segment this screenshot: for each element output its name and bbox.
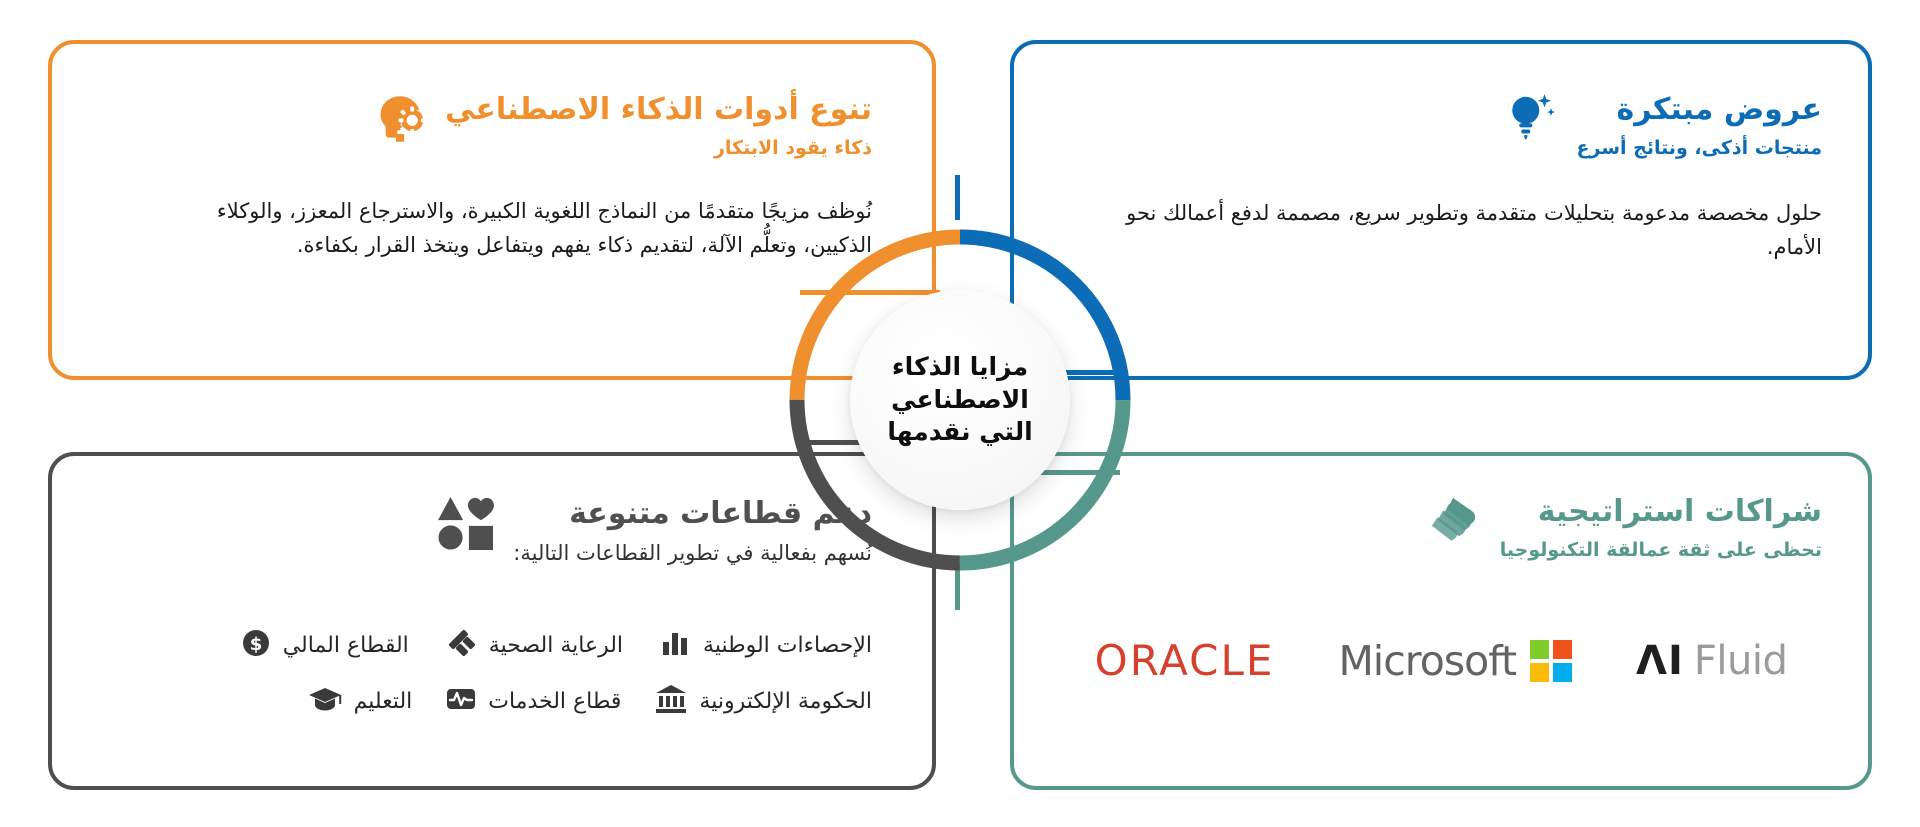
- sector-item-national-statistics[interactable]: الإحصاءات الوطنية: [661, 628, 872, 662]
- sector-label: الإحصاءات الوطنية: [703, 633, 872, 658]
- head-gear-icon: [373, 92, 427, 150]
- card-body-text: حلول مخصصة مدعومة بتحليلات متقدمة وتطوير…: [1122, 196, 1822, 264]
- card-title: تنوع أدوات الذكاء الاصطناعي: [445, 92, 872, 127]
- fluid-ai-word: Fluid: [1694, 638, 1787, 684]
- sector-label: الرعاية الصحية: [489, 633, 623, 658]
- card-header: تنوع أدوات الذكاء الاصطناعي ذكاء يقود ال…: [373, 92, 872, 161]
- hub-line-1: مزايا الذكاء: [887, 351, 1032, 384]
- center-hub: مزايا الذكاء الاصطناعي التي نقدمها: [760, 200, 1160, 600]
- hub-line-2: الاصطناعي: [887, 384, 1032, 417]
- sector-item-e-government[interactable]: الحكومة الإلكترونية: [655, 684, 872, 718]
- infographic-canvas: تنوع أدوات الذكاء الاصطناعي ذكاء يقود ال…: [0, 0, 1920, 827]
- card-header-text: شراكات استراتيجية تحظى على ثقة عمالقة ال…: [1500, 494, 1822, 563]
- hub-line-3: التي نقدمها: [887, 416, 1032, 449]
- sector-item-services[interactable]: قطاع الخدمات: [446, 684, 621, 718]
- card-header-text: تنوع أدوات الذكاء الاصطناعي ذكاء يقود ال…: [445, 92, 872, 161]
- fluid-ai-mark: ΛI: [1636, 638, 1684, 684]
- card-header: شراكات استراتيجية تحظى على ثقة عمالقة ال…: [1424, 494, 1822, 563]
- sector-item-education[interactable]: التعليم: [308, 684, 413, 718]
- microsoft-logo[interactable]: Microsoft: [1338, 637, 1572, 685]
- handshake-icon: [1424, 494, 1482, 548]
- shapes-icon: [437, 496, 495, 554]
- government-bank-icon: [655, 684, 687, 718]
- card-header-text: عروض مبتكرة منتجات أذكى، ونتائج أسرع: [1577, 92, 1822, 161]
- sector-item-healthcare[interactable]: الرعاية الصحية: [447, 628, 623, 662]
- bar-chart-icon: [661, 628, 691, 662]
- sector-item-financial[interactable]: $ القطاع المالي: [241, 628, 409, 662]
- card-subtitle: ذكاء يقود الابتكار: [445, 136, 872, 161]
- partner-logos: Fluid ΛI Microsoft ORACLE: [1014, 636, 1868, 685]
- microsoft-squares-icon: [1530, 640, 1572, 682]
- sector-list: الإحصاءات الوطنية الرعاية: [112, 628, 872, 718]
- microsoft-word: Microsoft: [1338, 637, 1516, 685]
- pulse-chart-icon: [446, 684, 476, 718]
- card-subtitle: منتجات أذكى، ونتائج أسرع: [1577, 136, 1822, 161]
- card-title: شراكات استراتيجية: [1500, 494, 1822, 529]
- sector-label: قطاع الخدمات: [488, 689, 621, 714]
- sector-label: التعليم: [354, 689, 413, 714]
- hub-text: مزايا الذكاء الاصطناعي التي نقدمها: [887, 351, 1032, 449]
- hub-disc: مزايا الذكاء الاصطناعي التي نقدمها: [850, 290, 1070, 510]
- lightbulb-sparkle-icon: [1503, 92, 1559, 150]
- fluid-ai-logo[interactable]: Fluid ΛI: [1636, 638, 1787, 684]
- dollar-coin-icon: $: [241, 628, 271, 662]
- sector-row: الحكومة الإلكترونية قطاع الخدمات: [112, 684, 872, 718]
- oracle-logo[interactable]: ORACLE: [1095, 636, 1275, 685]
- graduation-cap-icon: [308, 684, 342, 718]
- sector-row: الإحصاءات الوطنية الرعاية: [112, 628, 872, 662]
- medical-cross-icon: [447, 628, 477, 662]
- sector-label: القطاع المالي: [283, 633, 409, 658]
- card-header: عروض مبتكرة منتجات أذكى، ونتائج أسرع: [1503, 92, 1822, 161]
- card-title: عروض مبتكرة: [1577, 92, 1822, 127]
- card-subtitle: تحظى على ثقة عمالقة التكنولوجيا: [1500, 538, 1822, 563]
- svg-text:$: $: [249, 634, 262, 655]
- sector-label: الحكومة الإلكترونية: [699, 689, 872, 714]
